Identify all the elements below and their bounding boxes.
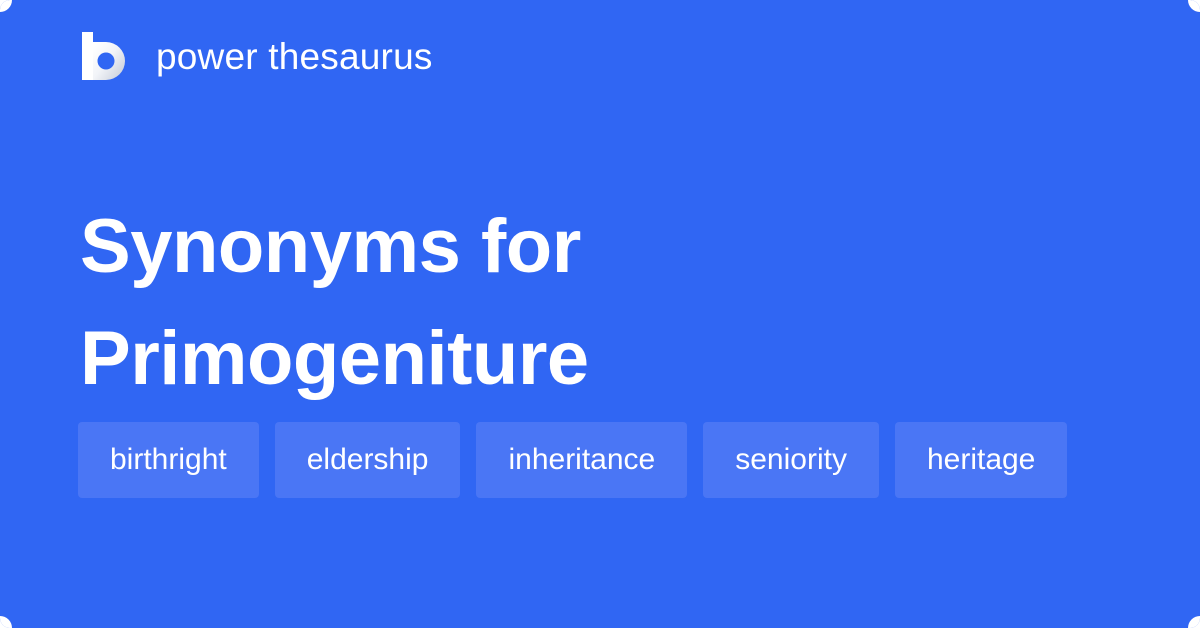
power-thesaurus-b-logo-icon	[80, 30, 132, 82]
synonym-chip[interactable]: inheritance	[476, 422, 687, 498]
page-title: Synonyms for Primogeniture	[80, 191, 1120, 414]
synonym-chip[interactable]: seniority	[703, 422, 879, 498]
corner-mask-bottom-right	[1188, 616, 1200, 628]
corner-mask-top-left	[0, 0, 12, 12]
page-title-line-1: Synonyms for	[80, 191, 1120, 303]
synonym-chip[interactable]: birthright	[78, 422, 259, 498]
corner-mask-bottom-left	[0, 616, 12, 628]
synonym-chip[interactable]: heritage	[895, 422, 1067, 498]
synonym-list: birthright eldership inheritance seniori…	[78, 422, 1122, 498]
brand-name: power thesaurus	[156, 38, 433, 75]
corner-mask-top-right	[1188, 0, 1200, 12]
synonym-chip[interactable]: eldership	[275, 422, 461, 498]
synonyms-share-card: power thesaurus Synonyms for Primogenitu…	[0, 0, 1200, 628]
page-title-line-2: Primogeniture	[80, 303, 1120, 415]
brand-header[interactable]: power thesaurus	[80, 28, 433, 84]
